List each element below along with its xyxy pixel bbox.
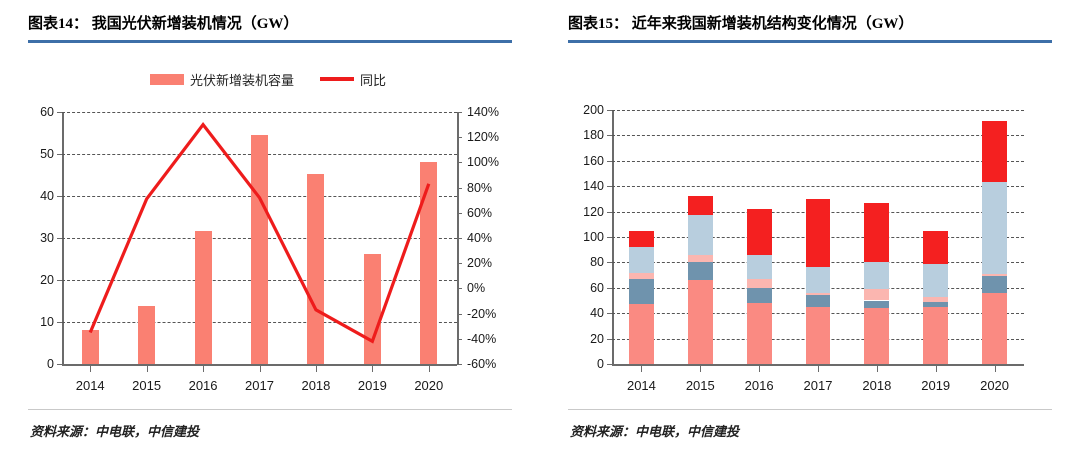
right-chart-ytick [607,364,612,365]
left-chart-xtick [90,365,91,372]
left-chart-ytick-label-left: 10 [12,315,54,329]
right-chart-xtick [818,365,819,372]
right-chart-xtick-label: 2016 [745,378,774,393]
left-chart-ytick-right [457,238,462,239]
right-chart-ytick-label: 0 [560,357,604,371]
right-chart-bar-segment [806,293,831,296]
left-chart-legend: 光伏新增装机容量 同比 [150,68,386,90]
right-chart-xtick-label: 2020 [980,378,1009,393]
right-chart-bar-segment [806,199,831,268]
right-chart-bar-segment [688,255,713,263]
left-footer-divider [28,409,512,410]
right-chart-ytick [607,237,612,238]
left-chart-ytick-right [457,162,462,163]
legend-label-yoy: 同比 [360,70,386,89]
right-source-note: 资料来源：中电联，中信建投 [570,421,739,440]
right-chart-bar-segment [923,307,948,364]
right-chart-bar-segment [747,303,772,364]
left-chart-xtick-label: 2014 [76,378,105,393]
right-chart-bar-segment [864,203,889,263]
right-chart-bar-segment [982,293,1007,364]
figure-page: 图表14： 我国光伏新增装机情况（GW） 光伏新增装机容量 同比 0102030… [0,0,1080,464]
left-chart-xtick-label: 2018 [301,378,330,393]
left-chart-xtick [147,365,148,372]
right-chart-bar-segment [747,279,772,288]
left-chart-xtick [429,365,430,372]
right-figure-panel: 图表15： 近年来我国新增装机结构变化情况（GW） 火电 水电 核电 风电 光伏 [540,0,1080,464]
left-chart-ytick-right [457,364,462,365]
right-chart-ytick-label: 160 [560,154,604,168]
right-chart-bar-segment [629,304,654,364]
right-chart-ytick-label: 40 [560,306,604,320]
left-chart-plot-area: 0102030405060-60%-40%-20%0%20%40%60%80%1… [62,112,457,364]
left-chart-ytick-label-right: 0% [467,281,485,295]
right-title-divider [568,40,1052,43]
right-chart-ytick [607,110,612,111]
right-chart-ytick-label: 80 [560,255,604,269]
right-chart-stacked-bar [923,110,948,364]
right-chart-bar-segment [864,289,889,300]
right-chart-ytick [607,288,612,289]
left-chart-ytick-label-right: 140% [467,105,499,119]
right-chart-bar-segment [864,301,889,309]
right-chart-ytick-label: 60 [560,281,604,295]
right-panel-title: 图表15： 近年来我国新增装机结构变化情况（GW） [568,12,913,33]
right-chart-bar-segment [629,279,654,304]
right-chart-ytick-label: 140 [560,179,604,193]
right-chart-bar-segment [982,182,1007,273]
right-chart-bar-segment [747,255,772,279]
left-chart-ytick-right [457,288,462,289]
left-source-note: 资料来源：中电联，中信建投 [30,421,199,440]
right-chart-ytick [607,135,612,136]
legend-swatch-bar-icon [150,74,184,85]
left-chart-ytick-right [457,263,462,264]
right-chart-ytick-label: 100 [560,230,604,244]
right-chart-ytick [607,262,612,263]
left-chart-ytick-label-left: 20 [12,273,54,287]
left-figure-panel: 图表14： 我国光伏新增装机情况（GW） 光伏新增装机容量 同比 0102030… [0,0,540,464]
right-chart-xtick-label: 2018 [862,378,891,393]
left-chart-ytick-right [457,339,462,340]
right-chart-bar-segment [923,297,948,302]
right-chart-xtick-label: 2019 [921,378,950,393]
left-chart-xtick [260,365,261,372]
left-chart-ytick-label-right: -20% [467,307,496,321]
left-chart-xtick-label: 2019 [358,378,387,393]
right-chart-xtick-label: 2014 [627,378,656,393]
right-chart-bar-segment [688,280,713,364]
left-chart-ytick-label-left: 40 [12,189,54,203]
left-chart-ytick-right [457,314,462,315]
left-chart-ytick-label-right: -40% [467,332,496,346]
right-chart-plot-area: 0204060801001201401601802002014201520162… [612,110,1024,364]
left-chart-ytick-right [457,213,462,214]
right-chart-bar-segment [864,308,889,364]
left-chart-xtick-label: 2017 [245,378,274,393]
left-chart-ytick-right [457,137,462,138]
right-chart-ytick-label: 120 [560,205,604,219]
right-chart-stacked-bar [688,110,713,364]
right-chart-xtick [700,365,701,372]
right-chart-bar-segment [629,247,654,272]
right-chart-ytick [607,313,612,314]
right-chart-bar-segment [688,196,713,215]
left-title-divider [28,40,512,43]
left-chart-ytick-label-right: 80% [467,181,492,195]
left-chart-xtick-label: 2016 [189,378,218,393]
right-chart-bar-segment [629,231,654,248]
right-chart-stacked-bar [806,110,831,364]
right-chart-ytick-label: 180 [560,128,604,142]
left-chart-ytick-right [457,112,462,113]
right-chart-ytick [607,212,612,213]
left-chart-yoy-line [62,112,457,364]
right-chart-xtick-label: 2017 [804,378,833,393]
right-chart-xtick [995,365,996,372]
right-chart-ytick [607,186,612,187]
right-footer-divider [568,409,1052,410]
left-chart-ytick-label-right: 60% [467,206,492,220]
left-chart-xtick [316,365,317,372]
right-chart-xtick [759,365,760,372]
left-chart-ytick-label-right: 40% [467,231,492,245]
right-chart-xtick [641,365,642,372]
right-chart-stacked-bar [864,110,889,364]
right-chart-bar-segment [806,307,831,364]
legend-item-pv-capacity: 光伏新增装机容量 [150,70,294,89]
left-chart-xtick [203,365,204,372]
right-chart-ytick-label: 20 [560,332,604,346]
legend-swatch-line-icon [320,77,354,81]
left-chart-xtick-label: 2020 [414,378,443,393]
left-chart-ytick-left [57,364,62,365]
left-chart-ytick-label-right: 100% [467,155,499,169]
legend-item-yoy: 同比 [320,70,386,89]
left-chart-ytick-label-right: -60% [467,357,496,371]
left-chart-ytick-label-right: 120% [467,130,499,144]
right-chart-stacked-bar [747,110,772,364]
right-chart-xtick [877,365,878,372]
right-chart-stacked-bar [982,110,1007,364]
right-chart-bar-segment [747,209,772,255]
right-chart-bar-segment [923,302,948,307]
left-chart-xtick-label: 2015 [132,378,161,393]
right-chart-bar-segment [688,215,713,254]
right-chart-bar-segment [923,231,948,264]
left-chart-ytick-label-left: 0 [12,357,54,371]
left-chart-ytick-right [457,188,462,189]
right-chart-stacked-bar [629,110,654,364]
right-chart-xtick [936,365,937,372]
left-panel-title: 图表14： 我国光伏新增装机情况（GW） [28,12,298,33]
right-chart-bar-segment [982,121,1007,182]
left-chart-ytick-label-right: 20% [467,256,492,270]
right-chart-bar-segment [629,273,654,279]
right-chart-bar-segment [806,295,831,306]
left-chart-ytick-label-left: 30 [12,231,54,245]
left-chart-ytick-label-left: 60 [12,105,54,119]
right-chart-bar-segment [982,274,1007,277]
right-chart-xtick-label: 2015 [686,378,715,393]
right-chart-bar-segment [806,267,831,292]
right-chart-bar-segment [747,288,772,303]
left-chart-xtick [372,365,373,372]
right-chart-ytick [607,339,612,340]
right-chart-bar-segment [864,262,889,289]
right-chart-bar-segment [982,276,1007,293]
right-chart-bar-segment [923,264,948,297]
right-chart-ytick [607,161,612,162]
legend-label-pv-capacity: 光伏新增装机容量 [190,70,294,89]
left-chart-ytick-label-left: 50 [12,147,54,161]
right-chart-ytick-label: 200 [560,103,604,117]
right-chart-bar-segment [688,262,713,280]
